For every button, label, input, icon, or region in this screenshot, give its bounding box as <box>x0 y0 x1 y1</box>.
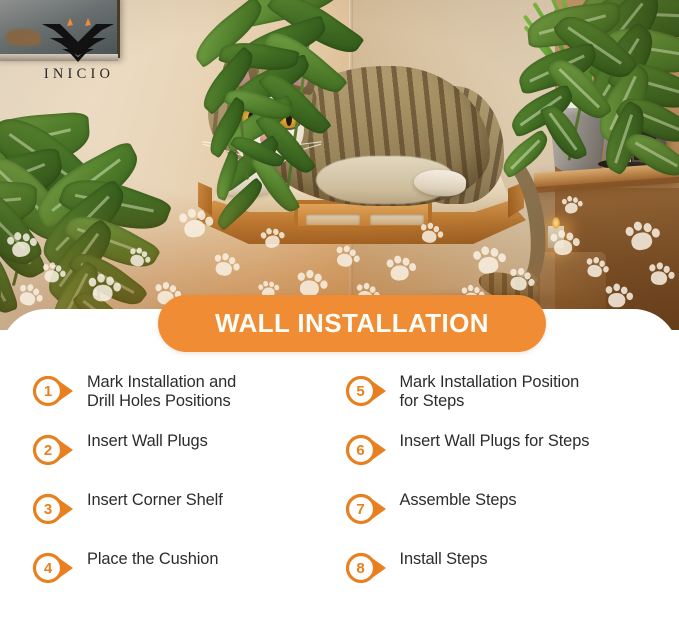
chevron-wing-logo-icon <box>40 16 116 64</box>
step-number: 3 <box>32 493 64 525</box>
step-badge-8: 8 <box>345 552 387 584</box>
step-number: 1 <box>32 375 64 407</box>
step-label: Mark Installation andDrill Holes Positio… <box>87 368 236 412</box>
step-item-3[interactable]: 3Insert Corner Shelf <box>32 486 345 545</box>
step-item-1[interactable]: 1Mark Installation andDrill Holes Positi… <box>32 368 345 427</box>
step-badge-4: 4 <box>32 552 74 584</box>
steps-grid: 1Mark Installation andDrill Holes Positi… <box>0 368 679 618</box>
step-number: 4 <box>32 552 64 584</box>
step-number: 6 <box>345 434 377 466</box>
step-badge-7: 7 <box>345 493 387 525</box>
brand-name: INICIO <box>36 66 122 83</box>
step-number: 5 <box>345 375 377 407</box>
step-label: Assemble Steps <box>400 486 517 510</box>
step-item-7[interactable]: 7Assemble Steps <box>345 486 658 545</box>
step-badge-3: 3 <box>32 493 74 525</box>
step-number: 7 <box>345 493 377 525</box>
step-badge-1: 1 <box>32 375 74 407</box>
step-label: Install Steps <box>400 545 488 569</box>
step-item-4[interactable]: 4Place the Cushion <box>32 545 345 604</box>
step-label: Place the Cushion <box>87 545 218 569</box>
step-label: Insert Wall Plugs <box>87 427 208 451</box>
step-number: 8 <box>345 552 377 584</box>
step-badge-2: 2 <box>32 434 74 466</box>
step-badge-6: 6 <box>345 434 387 466</box>
step-badge-5: 5 <box>345 375 387 407</box>
brand-logo: INICIO <box>36 16 122 88</box>
step-item-8[interactable]: 8Install Steps <box>345 545 658 604</box>
step-number: 2 <box>32 434 64 466</box>
step-label: Insert Wall Plugs for Steps <box>400 427 590 451</box>
infographic-canvas: INICIO WALL INSTALLATION 1Mark Installat… <box>0 0 679 618</box>
step-item-2[interactable]: 2Insert Wall Plugs <box>32 427 345 486</box>
step-label: Mark Installation Positionfor Steps <box>400 368 580 412</box>
step-item-6[interactable]: 6Insert Wall Plugs for Steps <box>345 427 658 486</box>
step-item-5[interactable]: 5Mark Installation Positionfor Steps <box>345 368 658 427</box>
section-title-banner: WALL INSTALLATION <box>158 295 546 352</box>
section-title: WALL INSTALLATION <box>215 308 489 339</box>
step-label: Insert Corner Shelf <box>87 486 223 510</box>
